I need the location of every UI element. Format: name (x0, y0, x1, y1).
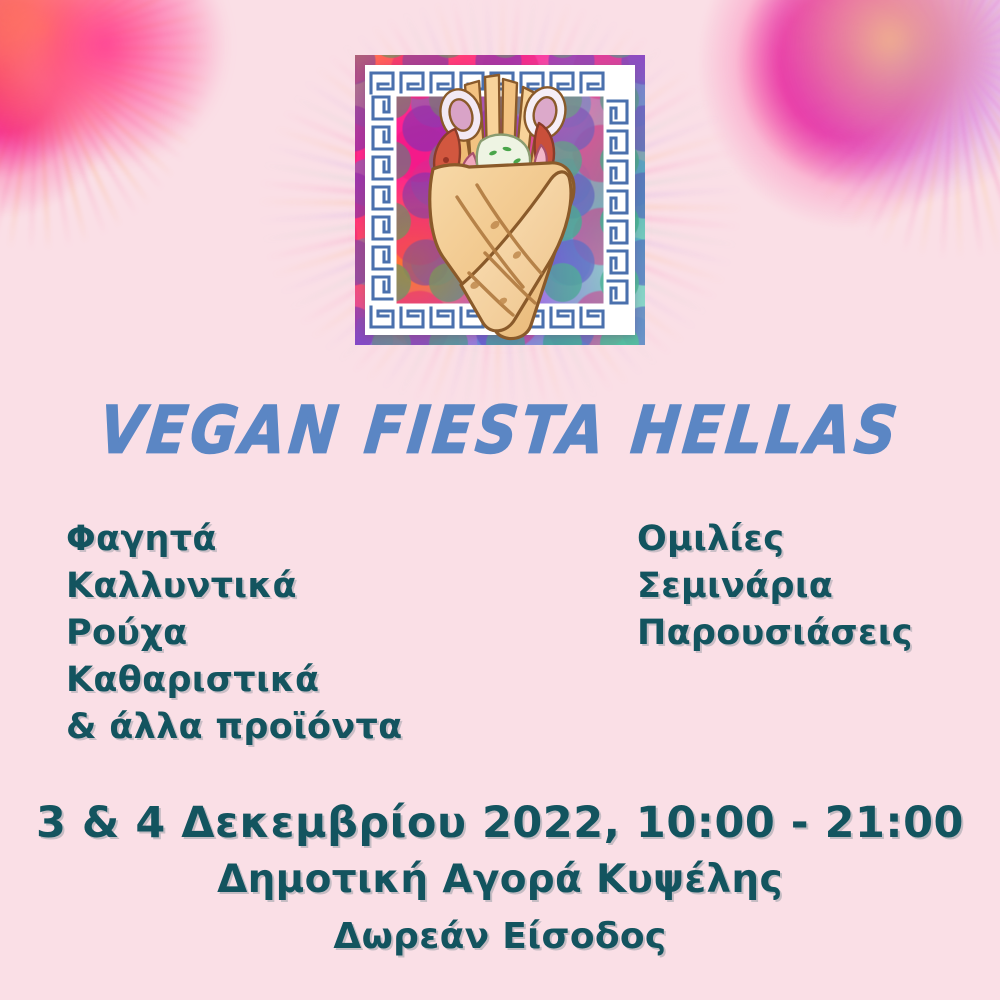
event-venue: Δημοτική Αγορά Κυψέλης (0, 851, 1000, 909)
event-details: 3 & 4 Δεκεμβρίου 2022, 10:00 - 21:00 Δημ… (0, 795, 1000, 965)
splash-rays-top-left (0, 0, 350, 310)
splash-top-right (660, 0, 1000, 270)
page-title: VEGAN FIESTA HELLAS (0, 393, 1000, 468)
splash-top-right-core (740, 0, 1000, 190)
list-item: Καθαριστικά (66, 657, 402, 704)
list-item: Καλλυντικά (66, 563, 402, 610)
splash-rays-top-right (640, 0, 1000, 320)
list-item: Φαγητά (66, 516, 402, 563)
poster-canvas: VEGAN FIESTA HELLAS Φαγητά Καλλυντικά Ρο… (0, 0, 1000, 1000)
list-item: Σεμινάρια (637, 563, 913, 610)
category-column-products: Φαγητά Καλλυντικά Ρούχα Καθαριστικά & άλ… (66, 516, 402, 751)
gyros-wrap-icon (399, 57, 601, 347)
category-columns: Φαγητά Καλλυντικά Ρούχα Καθαριστικά & άλ… (0, 516, 1000, 756)
splash-top-left (0, 0, 310, 260)
event-logo (355, 55, 645, 345)
list-item: Ομιλίες (637, 516, 913, 563)
list-item: & άλλα προϊόντα (66, 704, 402, 751)
event-admission: Δωρεάν Είσοδος (0, 909, 1000, 965)
splash-top-left-core (0, 0, 270, 210)
category-column-events: Ομιλίες Σεμινάρια Παρουσιάσεις (637, 516, 913, 657)
list-item: Παρουσιάσεις (637, 610, 913, 657)
list-item: Ρούχα (66, 610, 402, 657)
event-date-time: 3 & 4 Δεκεμβρίου 2022, 10:00 - 21:00 (0, 795, 1000, 851)
